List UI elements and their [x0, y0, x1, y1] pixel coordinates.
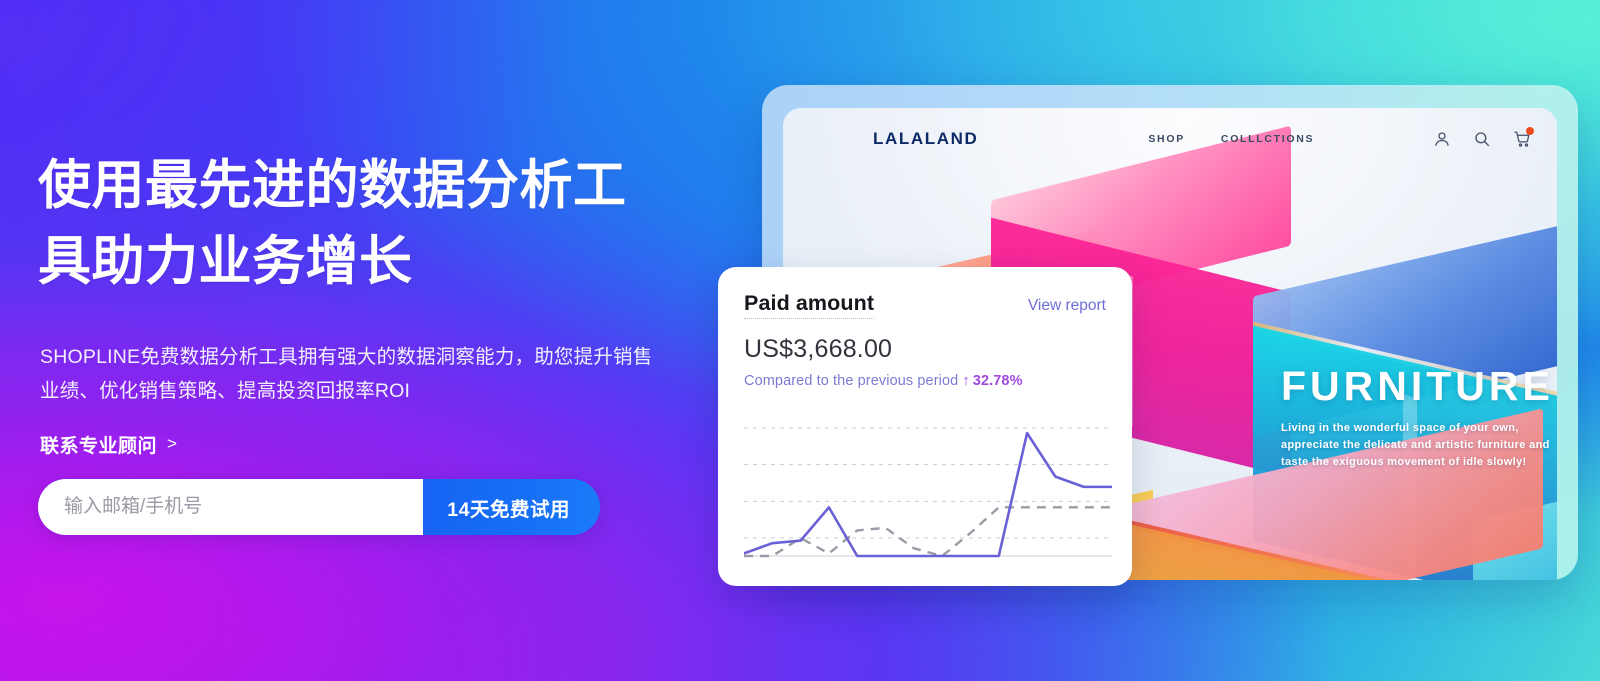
promo-body: Living in the wonderful space of your ow… — [1281, 420, 1557, 471]
cart-badge — [1526, 127, 1534, 135]
storefront-nav-links: SHOP COLLLCTIONS — [1148, 133, 1314, 145]
view-report-link[interactable]: View report — [1028, 297, 1106, 315]
promo-caption: FURNITURE Living in the wonderful space … — [1281, 366, 1557, 471]
paid-amount-card: Paid amount View report US$3,668.00 Comp… — [718, 267, 1132, 586]
contact-consultant-label: 联系专业顾问 — [40, 431, 157, 458]
hero-copy: 使用最先进的数据分析工 具助力业务增长 SHOPLINE免费数据分析工具拥有强大… — [38, 148, 698, 458]
headline-line-1: 使用最先进的数据分析工 — [38, 148, 698, 224]
headline-line-2: 具助力业务增长 — [38, 224, 698, 300]
trend-up-icon: ↑ — [962, 373, 969, 389]
contact-consultant-link[interactable]: 联系专业顾问 > — [40, 431, 177, 458]
chevron-right-icon: > — [167, 434, 177, 454]
promo-title: FURNITURE — [1281, 366, 1557, 407]
glass-cube-pink — [1113, 458, 1543, 580]
hero-banner: 使用最先进的数据分析工 具助力业务增长 SHOPLINE免费数据分析工具拥有强大… — [0, 0, 1600, 681]
comparison-label: Compared to the previous period — [744, 373, 958, 389]
search-icon[interactable] — [1473, 130, 1491, 148]
chart-svg — [744, 420, 1112, 568]
cart-icon[interactable] — [1513, 130, 1531, 148]
delta-percent: 32.78% — [973, 373, 1023, 389]
hero-subcopy: SHOPLINE免费数据分析工具拥有强大的数据洞察能力，助您提升销售业绩、优化销… — [40, 340, 665, 408]
signup-form: 14天免费试用 — [38, 479, 600, 535]
nav-link-collections[interactable]: COLLLCTIONS — [1221, 133, 1314, 145]
email-or-phone-input[interactable] — [38, 479, 423, 535]
account-icon[interactable] — [1433, 130, 1451, 148]
comparison-row: Compared to the previous period ↑32.78% — [744, 373, 1106, 389]
free-trial-button[interactable]: 14天免费试用 — [423, 479, 600, 535]
chart-series-previous — [744, 507, 1112, 556]
chart-gridlines — [744, 428, 1112, 538]
storefront-logo[interactable]: LALALAND — [873, 129, 978, 149]
storefront-nav-icons — [1433, 130, 1531, 148]
paid-amount-chart — [744, 420, 1112, 568]
page-title: 使用最先进的数据分析工 具助力业务增长 — [38, 148, 698, 300]
nav-link-shop[interactable]: SHOP — [1148, 133, 1185, 145]
card-header: Paid amount View report — [744, 291, 1106, 319]
paid-amount-value: US$3,668.00 — [744, 335, 1106, 364]
card-title: Paid amount — [744, 291, 874, 319]
storefront-navbar: LALALAND SHOP COLLLCTIONS — [783, 108, 1557, 170]
